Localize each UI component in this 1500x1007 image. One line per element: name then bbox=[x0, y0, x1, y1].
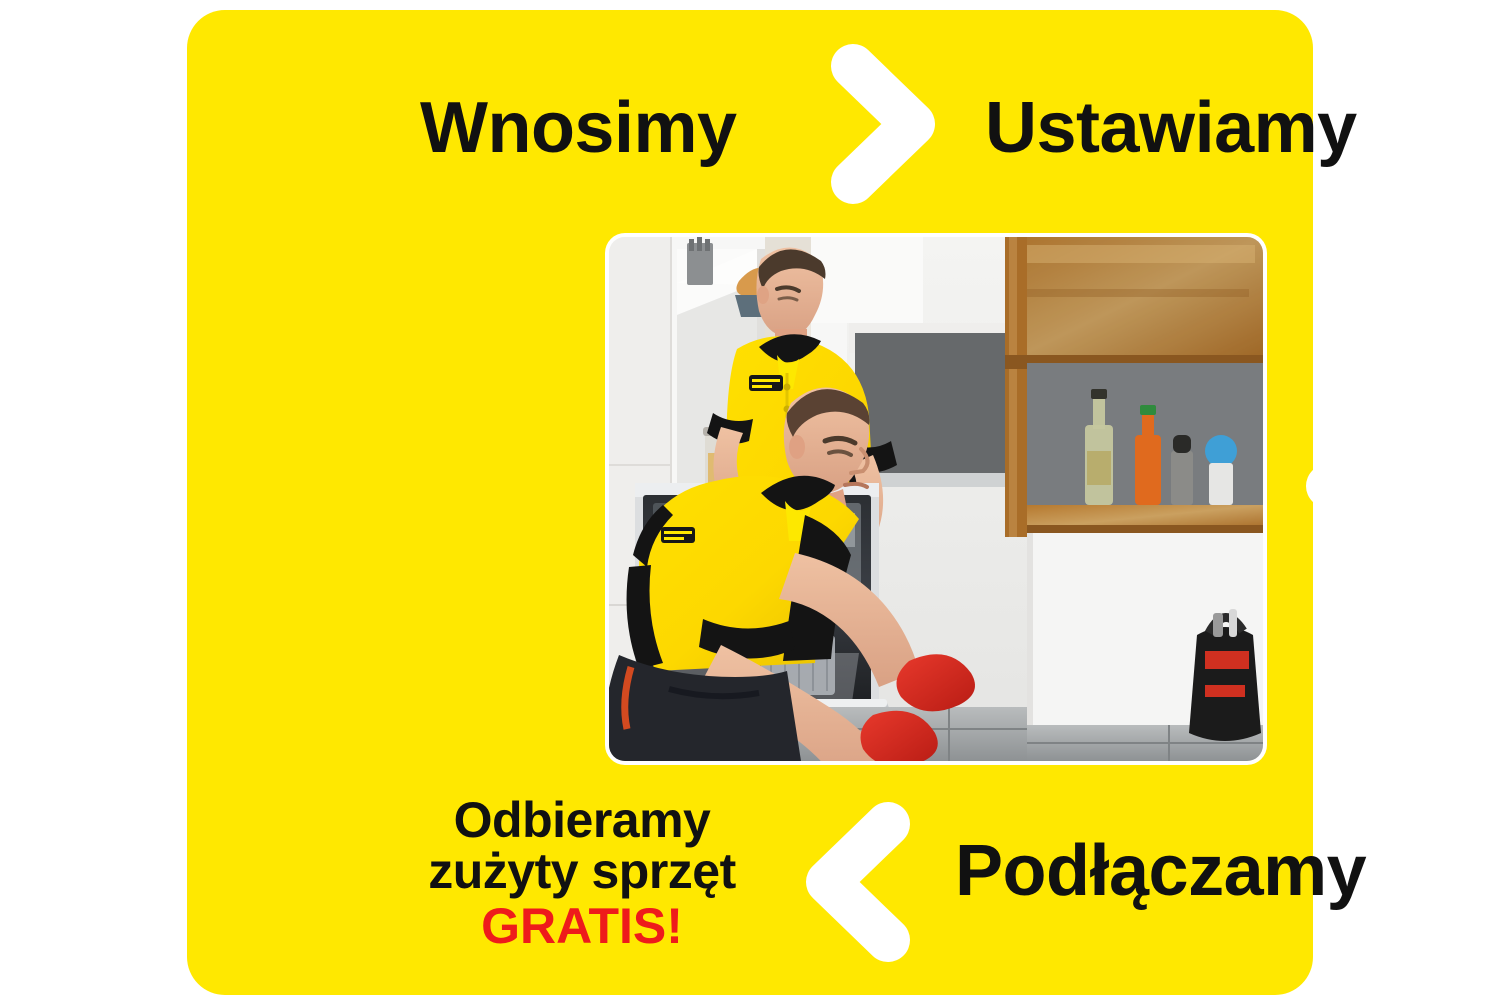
headline-step-2: Ustawiamy bbox=[985, 92, 1357, 164]
headline-step-1: Wnosimy bbox=[420, 92, 737, 164]
promo-card: Wnosimy Ustawiamy bbox=[187, 10, 1313, 995]
offer-line-2: zużyty sprzęt bbox=[377, 846, 787, 897]
headline-step-3: Podłączamy bbox=[955, 835, 1366, 907]
chevron-left-icon bbox=[802, 798, 914, 966]
chevron-right-icon bbox=[827, 40, 939, 208]
free-pickup-offer: Odbieramy zużyty sprzęt GRATIS! bbox=[377, 795, 787, 952]
chevron-down-icon bbox=[1302, 460, 1470, 572]
offer-line-1: Odbieramy bbox=[377, 795, 787, 846]
installation-photo bbox=[609, 237, 1263, 761]
offer-line-3-gratis: GRATIS! bbox=[377, 901, 787, 952]
